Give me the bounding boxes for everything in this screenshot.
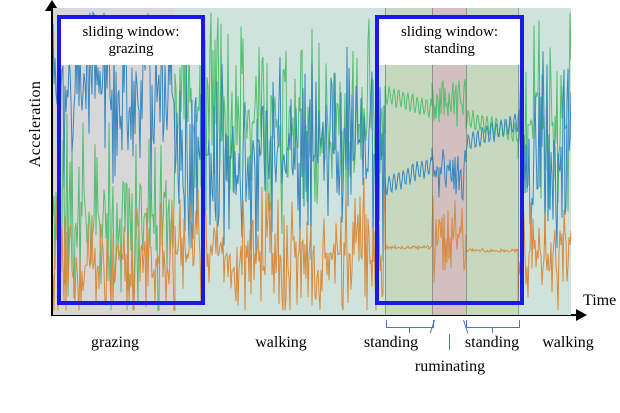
- grazing-window[interactable]: sliding window:grazing: [57, 15, 205, 305]
- standing-bracket-right-stem: [492, 327, 493, 333]
- x-tick-label-ruminating-5: ruminating: [390, 358, 510, 376]
- standing-window[interactable]: sliding window:standing: [375, 15, 524, 305]
- grazing-window-caption: sliding window:grazing: [61, 19, 201, 65]
- accelerometer-sliding-window-figure: Acceleration sliding window:grazingslidi…: [0, 0, 620, 412]
- ruminating-stem: [449, 334, 450, 350]
- sliding-window-activity: standing: [381, 41, 518, 58]
- x-tick-label-walking-4: walking: [508, 334, 620, 352]
- standing-window-caption: sliding window:standing: [379, 19, 520, 65]
- x-axis-label: Time: [583, 292, 616, 310]
- x-axis-arrow-icon: [576, 309, 587, 321]
- standing-bracket-left-stem: [409, 327, 410, 333]
- sliding-window-activity: grazing: [63, 41, 199, 58]
- y-axis-label: Acceleration: [27, 54, 45, 194]
- x-tick-label-walking-1: walking: [221, 334, 341, 352]
- sliding-window-title: sliding window:: [381, 24, 518, 41]
- sliding-window-title: sliding window:: [63, 24, 199, 41]
- x-tick-label-grazing-0: grazing: [55, 334, 175, 352]
